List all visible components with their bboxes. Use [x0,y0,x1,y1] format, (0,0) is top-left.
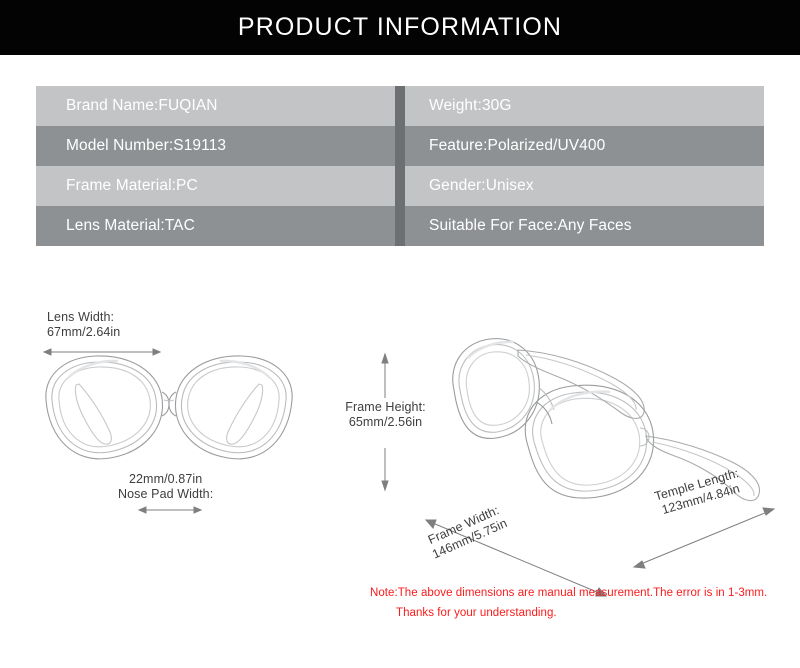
table-row: Model Number:S19113 Feature:Polarized/UV… [36,126,764,166]
temple-length-arrow [634,508,774,568]
nose-pad-width-label: Nose Pad Width: [118,487,213,502]
nose-pad-width-dimension: 22mm/0.87in Nose Pad Width: [118,472,213,502]
nose-pad-width-arrow [139,507,201,513]
table-row: Frame Material:PC Gender:Unisex [36,166,764,206]
spec-cell-gender: Gender:Unisex [405,166,764,206]
note-line-2: Thanks for your understanding. [370,603,788,623]
spec-cell-frame-material: Frame Material:PC [36,166,395,206]
dimension-diagram: Lens Width: 67mm/2.64in 22mm/0.87in Nose… [0,300,800,570]
spec-cell-suitable-for-face: Suitable For Face:Any Faces [405,206,764,246]
product-information-page: PRODUCT INFORMATION Brand Name:FUQIAN We… [0,0,800,668]
column-divider [395,126,405,166]
column-divider [395,86,405,126]
table-row: Lens Material:TAC Suitable For Face:Any … [36,206,764,246]
nose-pad-width-value: 22mm/0.87in [118,472,213,487]
spec-cell-model-number: Model Number:S19113 [36,126,395,166]
table-row: Brand Name:FUQIAN Weight:30G [36,86,764,126]
column-divider [395,166,405,206]
measurement-note: Note:The above dimensions are manual mea… [370,583,788,623]
glasses-front-view-illustration [38,348,300,478]
lens-width-arrow [44,349,160,355]
spec-cell-feature: Feature:Polarized/UV400 [405,126,764,166]
page-title: PRODUCT INFORMATION [238,15,562,40]
column-divider [395,206,405,246]
note-line-1: Note:The above dimensions are manual mea… [370,583,788,603]
page-header-band: PRODUCT INFORMATION [0,0,800,55]
lens-width-dimension: Lens Width: 67mm/2.64in [47,310,120,340]
spec-cell-lens-material: Lens Material:TAC [36,206,395,246]
spec-cell-brand-name: Brand Name:FUQIAN [36,86,395,126]
spec-cell-weight: Weight:30G [405,86,764,126]
lens-width-label: Lens Width: [47,310,120,325]
lens-width-value: 67mm/2.64in [47,325,120,340]
specification-table: Brand Name:FUQIAN Weight:30G Model Numbe… [36,86,764,246]
